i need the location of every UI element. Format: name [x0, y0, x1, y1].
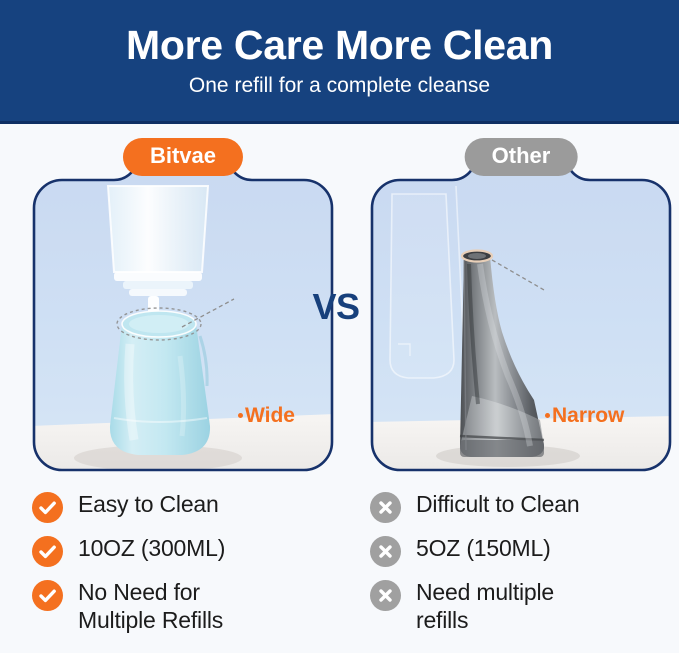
callout-dot-icon [238, 413, 243, 418]
badge-other: Other [465, 138, 578, 176]
feature-line-1: Difficult to Clean [416, 491, 579, 517]
banner-subtitle: One refill for a complete cleanse [189, 75, 490, 96]
versus-label: VS [304, 289, 368, 325]
feature-line-1: 5OZ (150ML) [416, 535, 551, 561]
feature-text: Easy to Clean [78, 490, 219, 518]
feature-row: No Need for Multiple Refills [32, 578, 338, 634]
cross-icon [370, 492, 401, 523]
feature-row: Easy to Clean [32, 490, 338, 523]
feature-text: No Need for Multiple Refills [78, 578, 223, 634]
feature-line-2: refills [416, 606, 554, 634]
cross-icon [370, 536, 401, 567]
feature-line-2: Multiple Refills [78, 606, 223, 634]
feature-line-1: Easy to Clean [78, 491, 219, 517]
feature-text: Difficult to Clean [416, 490, 579, 518]
feature-row: Difficult to Clean [370, 490, 676, 523]
feature-list-other: Difficult to Clean 5OZ (150ML) [370, 490, 676, 645]
feature-text: Need multiple refills [416, 578, 554, 634]
feature-line-1: Need multiple [416, 579, 554, 605]
feature-line-1: No Need for [78, 579, 200, 605]
feature-list-bitvae: Easy to Clean 10OZ (300ML) [32, 490, 338, 645]
check-icon [32, 492, 63, 523]
callout-wide-label: Wide [245, 404, 295, 427]
check-icon [32, 536, 63, 567]
comparison-section: Bitvae [0, 124, 679, 653]
product-image-bitvae [30, 164, 336, 474]
callout-dot-icon [545, 413, 550, 418]
feature-text: 5OZ (150ML) [416, 534, 551, 562]
feature-row: 10OZ (300ML) [32, 534, 338, 567]
callout-narrow-label: Narrow [552, 404, 624, 427]
feature-text: 10OZ (300ML) [78, 534, 225, 562]
banner-title: More Care More Clean [126, 25, 553, 66]
callout-wide: Wide [238, 405, 295, 426]
product-image-other [368, 164, 674, 474]
badge-bitvae: Bitvae [123, 138, 243, 176]
feature-row: 5OZ (150ML) [370, 534, 676, 567]
check-icon [32, 580, 63, 611]
feature-line-1: 10OZ (300ML) [78, 535, 225, 561]
header-banner: More Care More Clean One refill for a co… [0, 0, 679, 124]
cross-icon [370, 580, 401, 611]
product-panel-other [368, 164, 674, 474]
product-panel-bitvae [30, 164, 336, 474]
callout-narrow: Narrow [545, 405, 624, 426]
feature-row: Need multiple refills [370, 578, 676, 634]
